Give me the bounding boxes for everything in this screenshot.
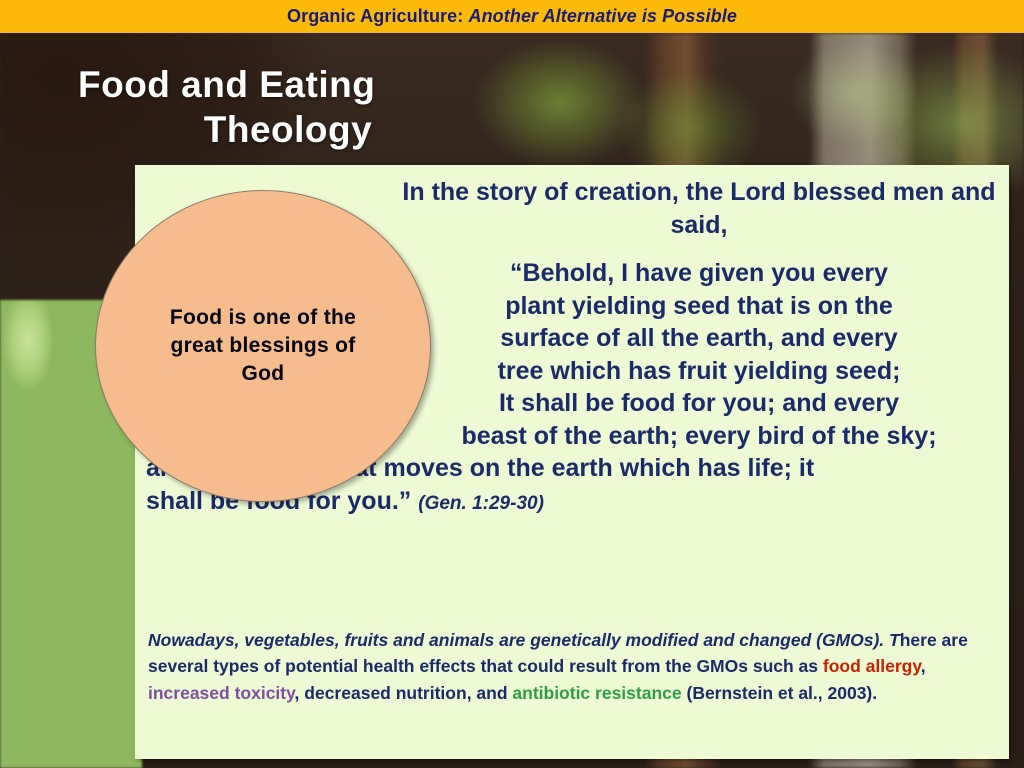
callout-oval: Food is one of the great blessings of Go…	[95, 190, 431, 502]
header-bar: Organic Agriculture: Another Alternative…	[0, 0, 1024, 33]
scripture-quote-line: beast of the earth; every bird of the sk…	[400, 420, 998, 453]
scripture-quote-line: It shall be food for you; and every	[400, 387, 998, 420]
header-title-main: Organic Agriculture:	[287, 6, 468, 26]
slide-canvas: Organic Agriculture: Another Alternative…	[0, 0, 1024, 768]
scripture-quote-line: plant yielding seed that is on the	[400, 290, 998, 323]
header-title-italic: Another Alternative is Possible	[468, 6, 737, 26]
callout-oval-text: Food is one of the great blessings of Go…	[148, 304, 378, 387]
page-title: Food and Eating Theology	[78, 62, 498, 152]
footnote-italic-sentence: Nowadays, vegetables, fruits and animals…	[148, 630, 900, 650]
term-increased-toxicity: increased toxicity	[148, 683, 295, 703]
scripture-quote-line: “Behold, I have given you every	[400, 257, 998, 290]
term-food-allergy: food allergy	[823, 656, 921, 676]
term-decreased-nutrition: decreased nutrition	[304, 683, 466, 703]
footnote-reference: (Bernstein et al., 2003).	[682, 683, 878, 703]
footnote-sep: , and	[467, 683, 513, 703]
scripture-quote-line: tree which has fruit yielding seed;	[400, 355, 998, 388]
scripture-quote-line: surface of all the earth, and every	[400, 322, 998, 355]
header-title: Organic Agriculture: Another Alternative…	[287, 6, 737, 27]
footnote-paragraph: Nowadays, vegetables, fruits and animals…	[148, 627, 1006, 706]
page-title-line-1: Food and Eating	[78, 62, 498, 107]
footnote-sep: ,	[295, 683, 305, 703]
scripture-citation: (Gen. 1:29-30)	[418, 493, 544, 514]
term-antibiotic-resistance: antibiotic resistance	[512, 683, 681, 703]
page-title-line-2: Theology	[78, 107, 498, 152]
footnote-sep: ,	[921, 656, 926, 676]
